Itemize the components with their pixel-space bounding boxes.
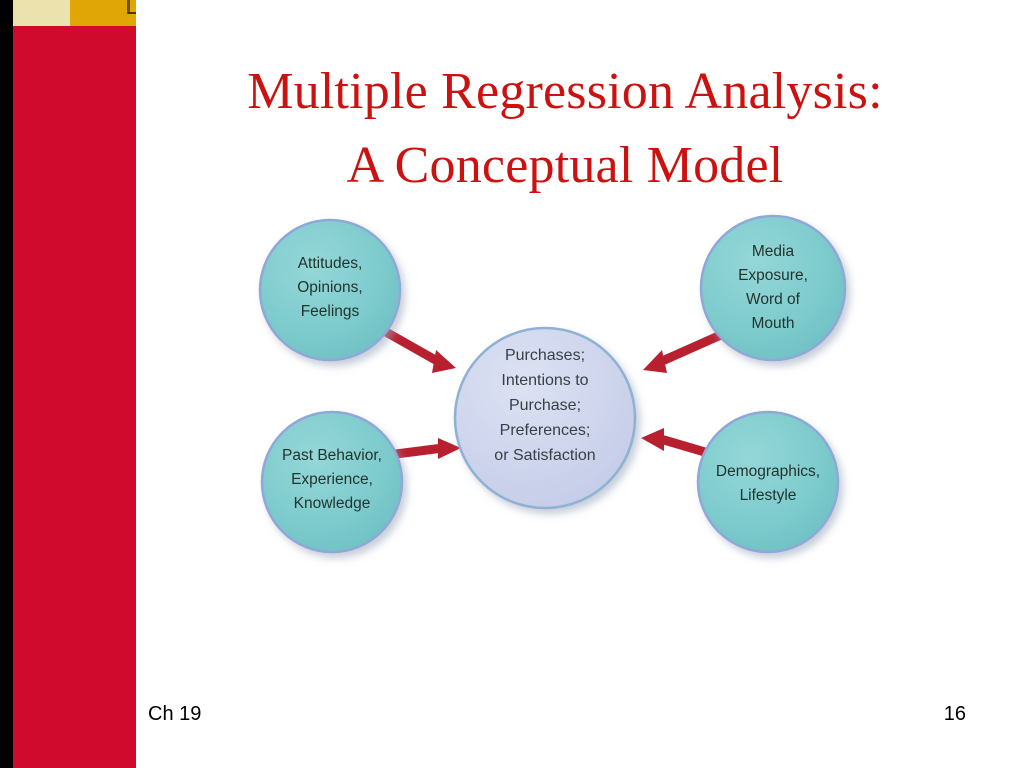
outcome-node-line-1: Purchases;	[505, 347, 585, 364]
attitudes-node-line-3: Feelings	[301, 303, 360, 320]
footer-chapter: Ch 19	[148, 703, 201, 726]
outcome-node-line-3: Purchase;	[509, 397, 581, 414]
demographics-node-line-2: Lifestyle	[740, 487, 797, 504]
left-red-band	[13, 26, 136, 768]
media-node-line-2: Exposure,	[738, 267, 808, 284]
outcome-node[interactable]: Purchases; Intentions to Purchase; Prefe…	[455, 328, 635, 508]
demographics-node-line-1: Demographics,	[716, 463, 820, 480]
left-black-band	[0, 0, 13, 768]
arrow-past-behavior-to-outcome	[388, 438, 461, 459]
past-behavior-node-line-3: Knowledge	[294, 495, 371, 512]
slide-canvas: Multiple Regression Analysis: A Conceptu…	[0, 0, 1024, 768]
media-node-line-3: Word of	[746, 291, 801, 308]
past-behavior-node-line-2: Experience,	[291, 471, 373, 488]
arrow-attitudes-to-outcome	[386, 332, 456, 373]
attitudes-node[interactable]: Attitudes, Opinions, Feelings	[260, 220, 400, 360]
demographics-node[interactable]: Demographics, Lifestyle	[698, 412, 838, 552]
attitudes-node-line-2: Opinions,	[297, 279, 362, 296]
page-title-line-1: Multiple Regression Analysis:	[150, 55, 980, 129]
page-title-line-2: A Conceptual Model	[150, 129, 980, 203]
past-behavior-node-line-1: Past Behavior,	[282, 447, 382, 464]
gold-band-tick	[128, 12, 136, 14]
outcome-node-line-5: or Satisfaction	[494, 447, 595, 464]
past-behavior-node[interactable]: Past Behavior, Experience, Knowledge	[262, 412, 402, 552]
outcome-node-line-2: Intentions to	[501, 372, 588, 389]
media-node-line-4: Mouth	[751, 315, 794, 332]
media-node[interactable]: Media Exposure, Word of Mouth	[701, 216, 845, 360]
page-title: Multiple Regression Analysis: A Conceptu…	[150, 55, 980, 203]
conceptual-model-diagram: Purchases; Intentions to Purchase; Prefe…	[240, 210, 880, 580]
attitudes-node-line-1: Attitudes,	[298, 255, 363, 272]
outcome-node-line-4: Preferences;	[500, 422, 591, 439]
footer-page-number: 16	[944, 703, 966, 726]
media-node-line-1: Media	[752, 243, 795, 260]
top-cream-band	[13, 0, 70, 26]
